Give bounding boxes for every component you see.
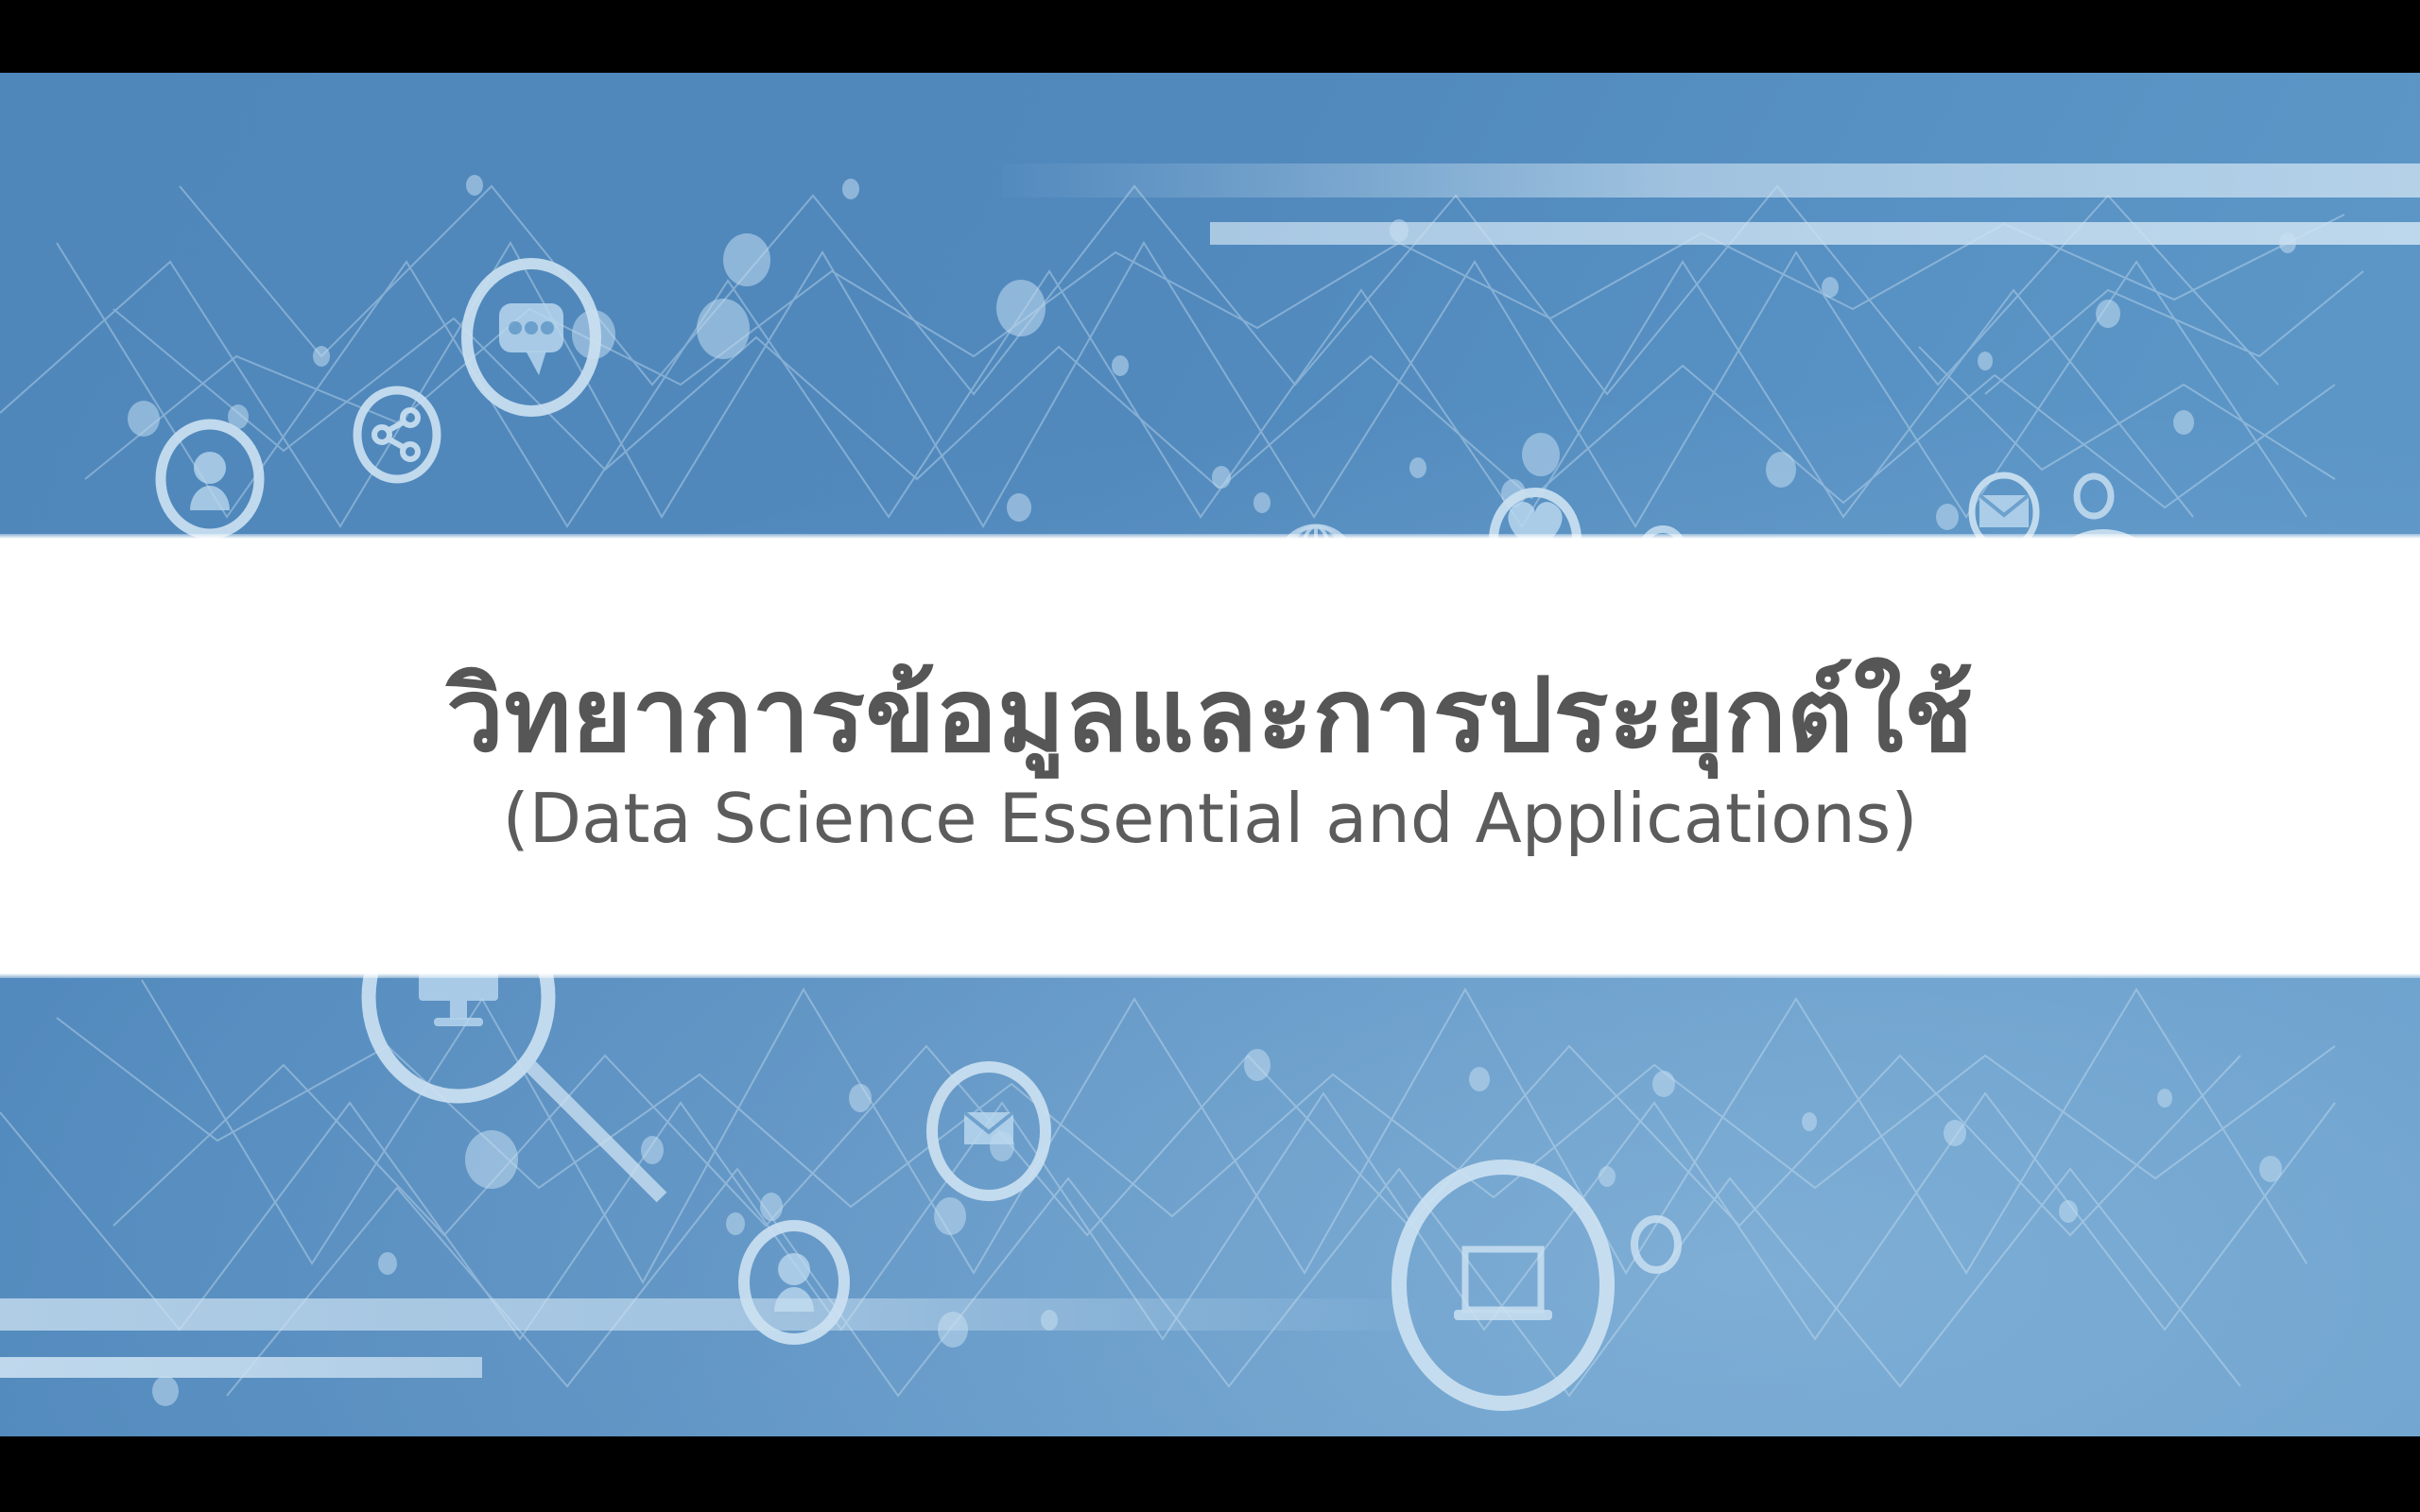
decor-stripe-top-right-narrow — [1210, 222, 2420, 245]
title-band: วิทยาการข้อมูลและการประยุกต์ใช้ (Data Sc… — [0, 539, 2420, 973]
network-nodes-lower — [152, 1049, 2282, 1406]
slide-subtitle-english: (Data Science Essential and Applications… — [503, 782, 1918, 856]
letterbox-top — [0, 0, 2420, 73]
network-edges-lower — [0, 980, 2335, 1396]
icon-share-upper-left — [357, 390, 437, 479]
decor-stripe-bottom-left-wide — [0, 1298, 1418, 1331]
icon-user-upper-left — [161, 424, 259, 534]
icon-laptop-lower-right — [1399, 1167, 1607, 1403]
decor-stripe-bottom-left-narrow — [0, 1357, 482, 1378]
decor-stripe-top-right-wide — [1002, 163, 2420, 198]
slide-canvas: วิทยาการข้อมูลและการประยุกต์ใช้ (Data Sc… — [0, 73, 2420, 1436]
icon-ring-small-upper-right-2 — [2077, 476, 2111, 516]
slide-stage: วิทยาการข้อมูลและการประยุกต์ใช้ (Data Sc… — [0, 0, 2420, 1512]
slide-title-thai: วิทยาการข้อมูลและการประยุกต์ใช้ — [446, 656, 1974, 776]
letterbox-bottom — [0, 1436, 2420, 1512]
icon-ring-small-lower-right — [1634, 1219, 1678, 1270]
